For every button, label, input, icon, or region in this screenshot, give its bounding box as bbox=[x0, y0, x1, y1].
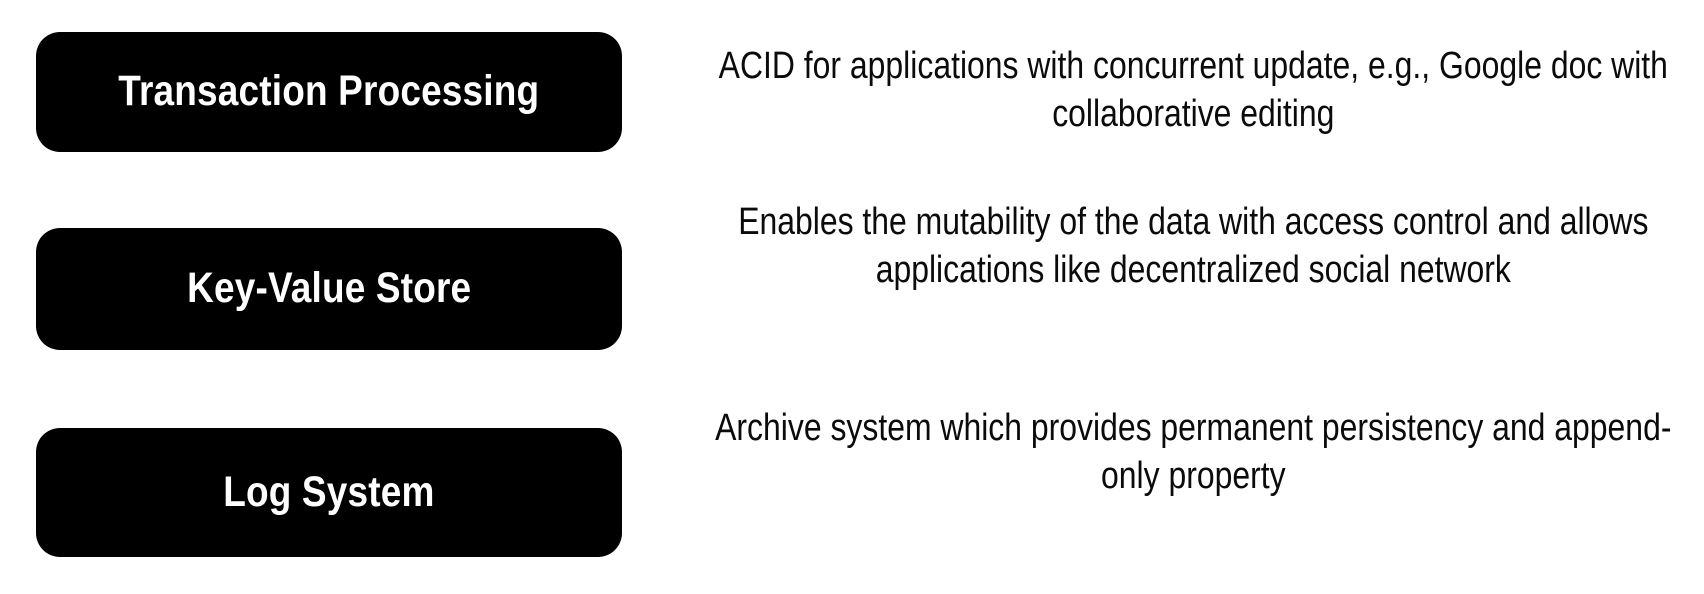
category-box-transaction-processing[interactable]: Transaction Processing bbox=[36, 32, 622, 152]
description-transaction-processing: ACID for applications with concurrent up… bbox=[700, 42, 1686, 138]
category-box-label: Key-Value Store bbox=[187, 266, 471, 311]
description-text: ACID for applications with concurrent up… bbox=[712, 42, 1673, 138]
slide-canvas: Transaction Processing ACID for applicat… bbox=[0, 0, 1704, 594]
description-text: Enables the mutability of the data with … bbox=[712, 198, 1673, 294]
description-text: Archive system which provides permanent … bbox=[712, 404, 1673, 500]
description-log-system: Archive system which provides permanent … bbox=[700, 404, 1686, 500]
category-box-label: Log System bbox=[223, 470, 434, 515]
category-box-label: Transaction Processing bbox=[119, 69, 540, 114]
description-key-value-store: Enables the mutability of the data with … bbox=[700, 198, 1686, 294]
category-box-log-system[interactable]: Log System bbox=[36, 428, 622, 557]
category-box-key-value-store[interactable]: Key-Value Store bbox=[36, 228, 622, 350]
